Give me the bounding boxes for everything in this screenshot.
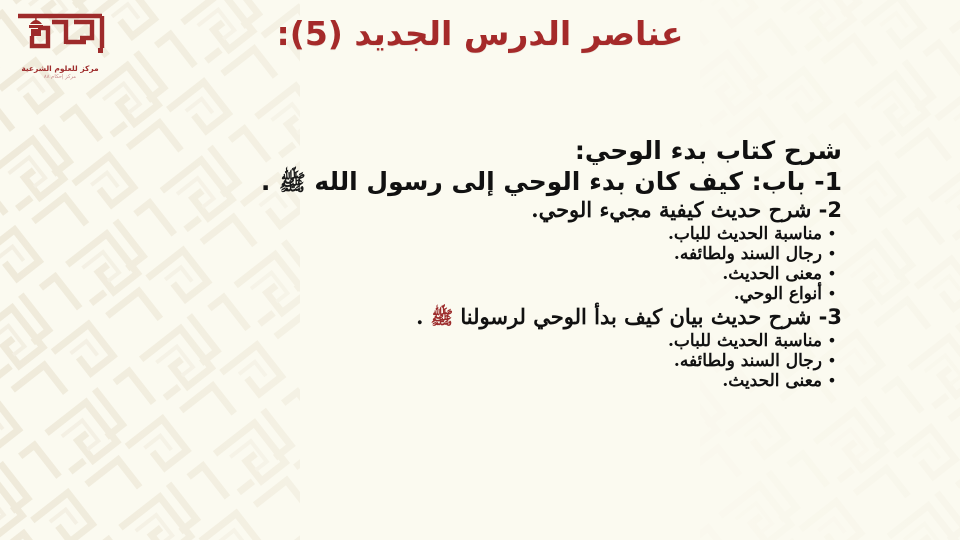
list-item: • رجال السند ولطائفه. — [0, 351, 960, 371]
item-text: شرح حديث كيفية مجيء الوحي. — [531, 197, 811, 222]
ihkam-wordmark-icon — [8, 8, 112, 64]
page-title: عناصر الدرس الجديد (5): — [150, 14, 810, 54]
bullet-text: مناسبة الحديث للباب. — [668, 224, 822, 244]
list-item: • معنى الحديث. — [0, 371, 960, 391]
slide-body: شرح كتاب بدء الوحي: 1- باب: كيف كان بدء … — [0, 136, 960, 391]
bullet-text: رجال السند ولطائفه. — [674, 351, 822, 371]
logo-subtitle: مركز للعلوم الشرعية — [8, 65, 112, 73]
bullet-dot-icon: • — [822, 266, 842, 282]
bullet-dot-icon: • — [822, 373, 842, 389]
bullet-dot-icon: • — [822, 353, 842, 369]
logo-subtitle-small: مركز إحكام ٨٨ — [8, 74, 112, 80]
content-heading: شرح كتاب بدء الوحي: — [0, 136, 960, 167]
list-item: • معنى الحديث. — [0, 264, 960, 284]
bullet-text: معنى الحديث. — [722, 264, 822, 284]
list-item: • مناسبة الحديث للباب. — [0, 331, 960, 351]
brand-logo: مركز للعلوم الشرعية مركز إحكام ٨٨ — [8, 8, 112, 94]
list-item: 1- باب: كيف كان بدء الوحي إلى رسول الله … — [0, 167, 960, 198]
item-text: شرح حديث بيان كيف بدأ الوحي لرسولنا — [460, 304, 811, 329]
slide-canvas: عناصر الدرس الجديد (5): — [0, 0, 960, 540]
honorific-salla-icon: ﷺ — [279, 171, 306, 196]
item-number: 3- — [819, 305, 842, 329]
item-trailing: . — [416, 304, 423, 329]
bullet-dot-icon: • — [822, 286, 842, 302]
bullet-dot-icon: • — [822, 246, 842, 262]
item-number: 2- — [819, 198, 842, 222]
slide-header: عناصر الدرس الجديد (5): — [0, 0, 960, 100]
bullet-text: رجال السند ولطائفه. — [674, 244, 822, 264]
list-item: 2- شرح حديث كيفية مجيء الوحي. — [0, 197, 960, 224]
list-item: • أنواع الوحي. — [0, 284, 960, 304]
honorific-salla-icon: ﷺ — [431, 308, 453, 329]
item-number: 1- — [814, 167, 842, 196]
bullet-text: معنى الحديث. — [722, 371, 822, 391]
list-item: • رجال السند ولطائفه. — [0, 244, 960, 264]
dome-motif — [29, 16, 43, 36]
item-text: باب: كيف كان بدء الوحي إلى رسول الله — [314, 167, 805, 196]
bullet-dot-icon: • — [822, 333, 842, 349]
bullet-text: مناسبة الحديث للباب. — [668, 331, 822, 351]
item-trailing: . — [261, 167, 271, 196]
list-item: • مناسبة الحديث للباب. — [0, 224, 960, 244]
list-item: 3- شرح حديث بيان كيف بدأ الوحي لرسولنا ﷺ… — [0, 304, 960, 331]
bullet-text: أنواع الوحي. — [734, 284, 822, 304]
bullet-dot-icon: • — [822, 226, 842, 242]
